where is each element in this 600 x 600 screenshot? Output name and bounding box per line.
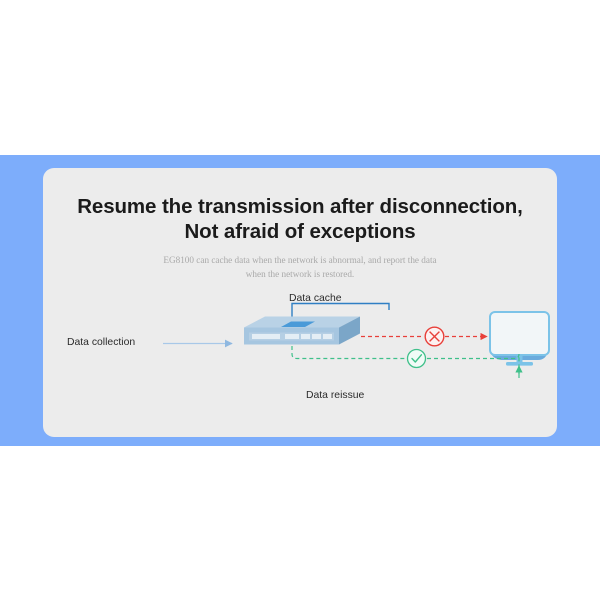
page-title-line-2: Not afraid of exceptions [43, 219, 557, 244]
label-data-reissue: Data reissue [306, 390, 364, 401]
page-subtitle-line-2: when the network is restored. [43, 267, 557, 281]
label-data-collection: Data collection [67, 337, 135, 348]
page-subtitle-line-1: EG8100 can cache data when the network i… [43, 253, 557, 267]
screenshot-root: Resume the transmission after disconnect… [0, 0, 600, 600]
green-check-circle-icon [408, 350, 426, 368]
page-title-line-1: Resume the transmission after disconnect… [43, 194, 557, 219]
red-cross-circle-icon [425, 327, 444, 346]
content-card: Resume the transmission after disconnect… [43, 168, 557, 437]
heading-block: Resume the transmission after disconnect… [43, 194, 557, 281]
label-data-cache: Data cache [289, 293, 342, 304]
data-reissue-path [292, 346, 519, 378]
gateway-device-icon [244, 317, 360, 345]
page-subtitle: EG8100 can cache data when the network i… [43, 253, 557, 281]
diagram-canvas [43, 294, 557, 424]
network-diagram: Data collection Data cache Data reissue [43, 294, 557, 424]
